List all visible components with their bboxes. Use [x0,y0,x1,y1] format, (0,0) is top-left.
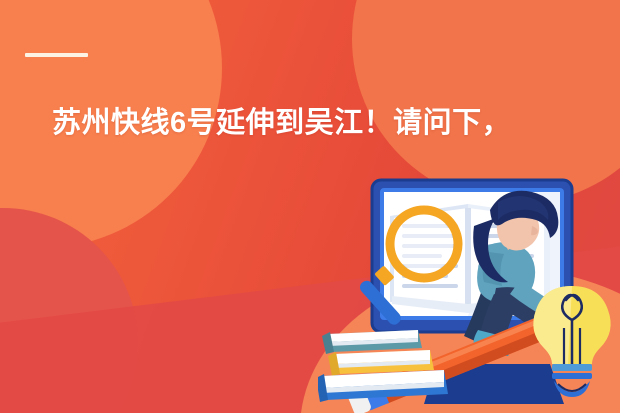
decorative-rule [25,53,88,57]
hero-illustration [318,168,620,413]
book-stack-icon [318,330,448,402]
promo-banner: 苏州快线6号延伸到吴江！请问下， [0,0,620,413]
page-title: 苏州快线6号延伸到吴江！请问下， [52,101,582,145]
